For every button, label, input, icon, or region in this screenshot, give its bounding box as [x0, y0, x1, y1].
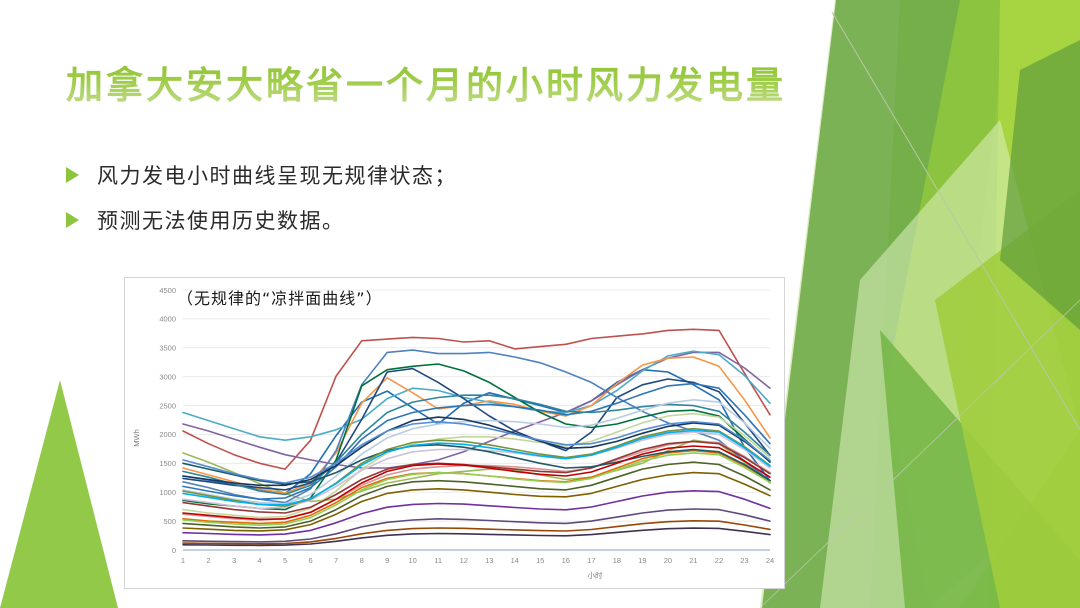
x-tick-label: 22: [715, 556, 723, 565]
x-tick-label: 2: [206, 556, 210, 565]
slide-root: 加拿大安大略省一个月的小时风力发电量 风力发电小时曲线呈现无规律状态； 预测无法…: [0, 0, 1080, 608]
x-tick-label: 20: [664, 556, 672, 565]
x-tick-label: 16: [562, 556, 570, 565]
y-axis-label: MWh: [132, 429, 141, 447]
y-tick-label: 4500: [159, 286, 176, 295]
list-item: 风力发电小时曲线呈现无规律状态；: [66, 155, 686, 195]
x-tick-label: 10: [409, 556, 417, 565]
x-tick-label: 8: [360, 556, 364, 565]
x-tick-label: 18: [613, 556, 621, 565]
x-tick-label: 12: [460, 556, 468, 565]
chart-xtick-labels: 123456789101112131415161718192021222324: [181, 556, 774, 565]
y-tick-label: 3500: [159, 344, 176, 353]
x-tick-label: 19: [638, 556, 646, 565]
x-tick-label: 9: [385, 556, 389, 565]
y-tick-label: 2000: [159, 430, 176, 439]
y-tick-label: 1000: [159, 488, 176, 497]
y-tick-label: 1500: [159, 459, 176, 468]
x-tick-label: 6: [309, 556, 313, 565]
y-tick-label: 2500: [159, 401, 176, 410]
x-tick-label: 17: [587, 556, 595, 565]
x-tick-label: 4: [257, 556, 261, 565]
bullet-list: 风力发电小时曲线呈现无规律状态； 预测无法使用历史数据。: [66, 155, 686, 245]
x-tick-label: 24: [766, 556, 774, 565]
chart-series-line: [183, 430, 770, 505]
page-title: 加拿大安大略省一个月的小时风力发电量: [66, 55, 836, 109]
x-tick-label: 14: [511, 556, 519, 565]
chart-series-line: [183, 429, 770, 506]
list-item: 预测无法使用历史数据。: [66, 200, 686, 240]
chart-ytick-labels: 050010001500200025003000350040004500: [159, 286, 176, 555]
y-tick-label: 0: [172, 546, 176, 555]
y-tick-label: 500: [163, 517, 176, 526]
x-tick-label: 1: [181, 556, 185, 565]
triangle-right-icon: [66, 212, 79, 228]
chart-annotation: （无规律的“凉拌面曲线”）: [177, 285, 383, 309]
x-tick-label: 21: [689, 556, 697, 565]
chart-series-lines: [183, 329, 770, 545]
x-tick-label: 7: [334, 556, 338, 565]
line-chart: 050010001500200025003000350040004500 123…: [125, 278, 786, 590]
bullet-text: 预测无法使用历史数据。: [97, 205, 345, 235]
x-tick-label: 23: [740, 556, 748, 565]
x-tick-label: 5: [283, 556, 287, 565]
y-tick-label: 3000: [159, 372, 176, 381]
x-axis-label: 小时: [588, 570, 603, 580]
x-tick-label: 3: [232, 556, 236, 565]
bullet-text: 风力发电小时曲线呈现无规律状态；: [97, 160, 457, 190]
x-tick-label: 15: [536, 556, 544, 565]
triangle-right-icon: [66, 167, 79, 183]
y-tick-label: 4000: [159, 315, 176, 324]
chart-series-line: [183, 462, 770, 528]
chart-container: （无规律的“凉拌面曲线”） 05001000150020002500300035…: [124, 277, 785, 589]
x-tick-label: 13: [485, 556, 493, 565]
x-tick-label: 11: [434, 556, 442, 565]
